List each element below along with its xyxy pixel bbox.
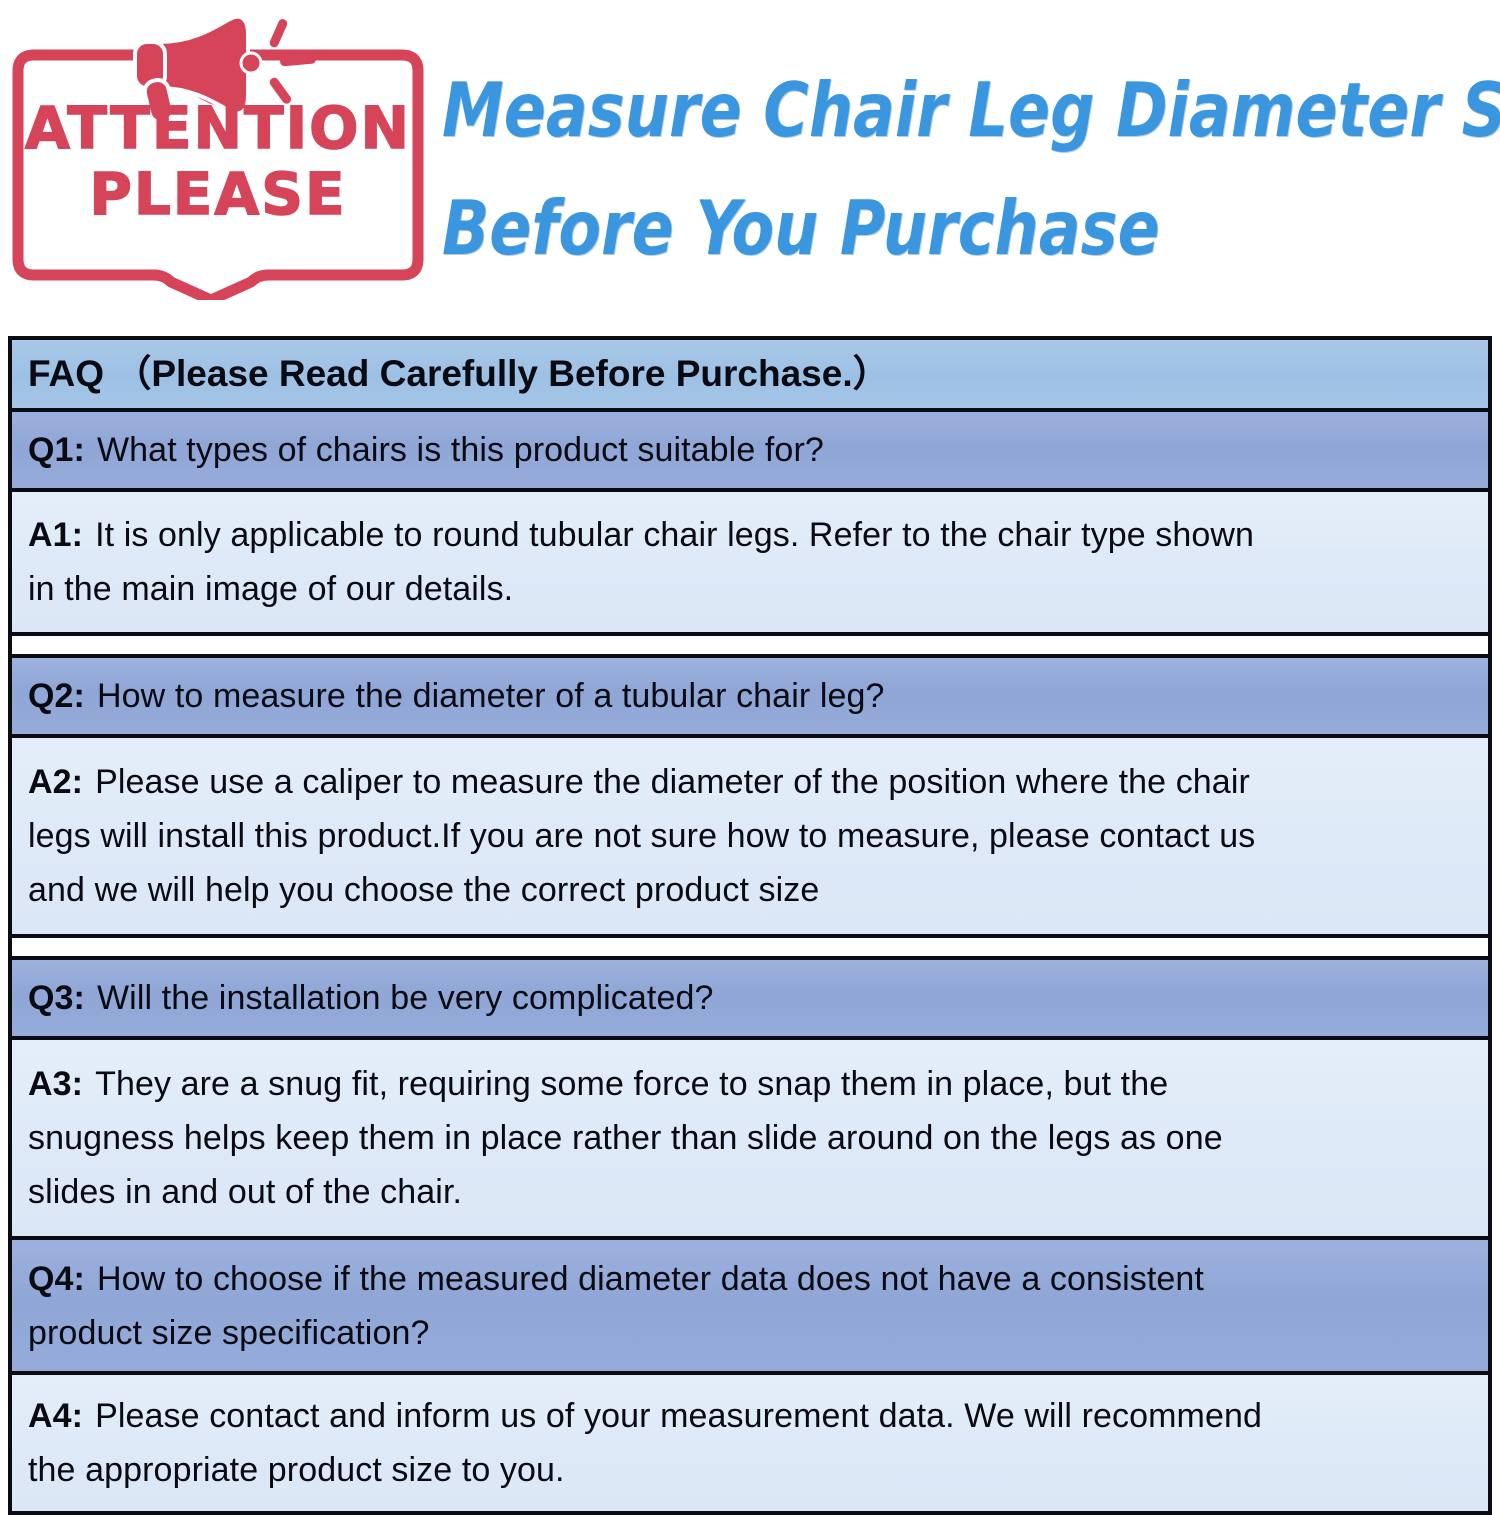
faq-question-label-2: Q2:	[28, 677, 85, 715]
attention-badge: ATTENTION PLEASE	[8, 8, 428, 300]
faq-question-label-4: Q4:	[28, 1260, 85, 1298]
faq-question-line-2: Q2:How to measure the diameter of a tubu…	[28, 669, 1472, 723]
page-title: Measure Chair Leg Diameter Size Before Y…	[442, 52, 1492, 288]
faq-answer-line-4b: the appropriate product size to you.	[28, 1443, 1472, 1497]
faq-question-row-4: Q4:How to choose if the measured diamete…	[12, 1240, 1488, 1375]
attention-badge-graphic	[8, 8, 428, 300]
faq-question-text-1: What types of chairs is this product sui…	[97, 431, 824, 469]
faq-answer-line-1a: A1:It is only applicable to round tubula…	[28, 508, 1472, 562]
page-header: ATTENTION PLEASE Measure Chair Leg Diame…	[0, 0, 1500, 330]
page-title-line-2: Before You Purchase	[442, 170, 1408, 288]
faq-answer-line-3a: A3:They are a snug fit, requiring some f…	[28, 1057, 1472, 1111]
faq-answer-row-3: A3:They are a snug fit, requiring some f…	[12, 1040, 1488, 1240]
faq-question-text-3: Will the installation be very complicate…	[97, 979, 713, 1017]
faq-question-line-3: Q3:Will the installation be very complic…	[28, 971, 1472, 1025]
faq-answer-label-3: A3:	[28, 1065, 83, 1103]
faq-question-line-4a: Q4:How to choose if the measured diamete…	[28, 1252, 1472, 1306]
faq-answer-line-2c: and we will help you choose the correct …	[28, 863, 1472, 917]
faq-answer-label-1: A1:	[28, 516, 83, 554]
faq-answer-row-2: A2:Please use a caliper to measure the d…	[12, 738, 1488, 938]
faq-answer-label-2: A2:	[28, 763, 83, 801]
faq-question-label-1: Q1:	[28, 431, 85, 469]
faq-answer-line-3b: snugness helps keep them in place rather…	[28, 1111, 1472, 1165]
faq-question-line-1: Q1:What types of chairs is this product …	[28, 423, 1472, 477]
faq-answer-text-1a: It is only applicable to round tubular c…	[95, 516, 1254, 554]
faq-answer-label-4: A4:	[28, 1397, 83, 1435]
faq-answer-row-1: A1:It is only applicable to round tubula…	[12, 492, 1488, 636]
faq-spacer-2	[12, 938, 1488, 960]
faq-answer-line-2a: A2:Please use a caliper to measure the d…	[28, 755, 1472, 809]
faq-question-row-2: Q2:How to measure the diameter of a tubu…	[12, 658, 1488, 738]
faq-question-text-2: How to measure the diameter of a tubular…	[97, 677, 885, 715]
faq-header-text: FAQ （Please Read Carefully Before Purcha…	[28, 347, 1472, 401]
faq-table: FAQ （Please Read Carefully Before Purcha…	[8, 336, 1492, 1515]
faq-answer-line-1b: in the main image of our details.	[28, 562, 1472, 616]
faq-answer-text-2a: Please use a caliper to measure the diam…	[95, 763, 1250, 801]
faq-answer-line-2b: legs will install this product.If you ar…	[28, 809, 1472, 863]
faq-question-line-4b: product size specification?	[28, 1306, 1472, 1360]
faq-answer-line-4a: A4:Please contact and inform us of your …	[28, 1389, 1472, 1443]
faq-question-row-3: Q3:Will the installation be very complic…	[12, 960, 1488, 1040]
faq-answer-row-4: A4:Please contact and inform us of your …	[12, 1375, 1488, 1515]
faq-spacer-1	[12, 636, 1488, 658]
faq-answer-text-4a: Please contact and inform us of your mea…	[95, 1397, 1262, 1435]
faq-question-row-1: Q1:What types of chairs is this product …	[12, 412, 1488, 492]
faq-question-text-4a: How to choose if the measured diameter d…	[97, 1260, 1204, 1298]
faq-answer-line-3c: slides in and out of the chair.	[28, 1165, 1472, 1219]
faq-question-label-3: Q3:	[28, 979, 85, 1017]
page-title-line-1: Measure Chair Leg Diameter Size	[442, 52, 1408, 170]
faq-table-header: FAQ （Please Read Carefully Before Purcha…	[12, 340, 1488, 412]
faq-answer-text-3a: They are a snug fit, requiring some forc…	[95, 1065, 1168, 1103]
